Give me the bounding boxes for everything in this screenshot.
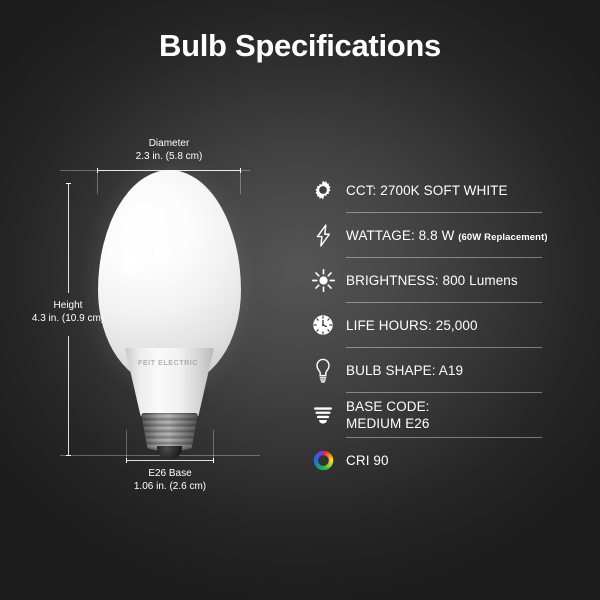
bulb-outline-icon (303, 350, 343, 390)
spec-label-wattage: WATTAGE: 8.8 W (60W Replacement) (343, 227, 588, 244)
spec-row-bulb-shape: BULB SHAPE: A19 (303, 348, 588, 392)
base-label-title: E26 Base (80, 468, 260, 481)
lightning-bolt-icon (303, 215, 343, 255)
bulb-highlight-secondary (148, 242, 170, 268)
height-label-title: Height (8, 300, 128, 313)
spec-label-wattage-main: WATTAGE: 8.8 W (346, 228, 454, 243)
spec-label-cct: CCT: 2700K SOFT WHITE (343, 182, 588, 199)
sun-rays-icon (303, 260, 343, 300)
screw-base-icon (303, 395, 343, 435)
diameter-cap-left (97, 168, 98, 173)
bulb-specifications-infographic: Bulb Specifications FEIT ELECTRIC (0, 0, 600, 600)
feit-electric-logo: FEIT ELECTRIC (128, 360, 208, 368)
base-cap-right (213, 458, 214, 463)
spec-label-wattage-sub: (60W Replacement) (458, 232, 547, 243)
height-dimension-line-upper (68, 183, 69, 293)
spec-label-base-code-line1: BASE CODE: (346, 399, 430, 414)
base-dimension-line (126, 460, 214, 461)
diameter-cap-right (240, 168, 241, 173)
spec-label-brightness: BRIGHTNESS: 800 Lumens (343, 272, 588, 289)
spec-row-wattage: WATTAGE: 8.8 W (60W Replacement) (303, 213, 588, 257)
specifications-list: CCT: 2700K SOFT WHITE WATTAGE: 8.8 W (60… (303, 168, 588, 482)
color-wheel-icon (303, 440, 343, 480)
spec-row-life-hours: LIFE HOURS: 25,000 (303, 303, 588, 347)
height-dimension-line-lower (68, 336, 69, 455)
spec-label-base-code: BASE CODE: MEDIUM E26 (343, 398, 588, 432)
base-label-value: 1.06 in. (2.6 cm) (80, 481, 260, 494)
diameter-label-title: Diameter (98, 138, 240, 151)
spec-label-cri: CRI 90 (343, 452, 588, 469)
page-title: Bulb Specifications (0, 28, 600, 64)
bulb-highlight-primary (122, 248, 142, 278)
height-cap-top (66, 183, 71, 184)
spec-row-cct: CCT: 2700K SOFT WHITE (303, 168, 588, 212)
spec-label-bulb-shape: BULB SHAPE: A19 (343, 362, 588, 379)
height-cap-bottom (66, 455, 71, 456)
spec-label-base-code-line2: MEDIUM E26 (346, 416, 430, 431)
diameter-dimension-line (97, 170, 241, 171)
spec-label-life-hours: LIFE HOURS: 25,000 (343, 317, 588, 334)
bulb-neck (125, 348, 214, 418)
spec-row-cri: CRI 90 (303, 438, 588, 482)
height-label-value: 4.3 in. (10.9 cm) (8, 313, 128, 326)
brand-line-2: ELECTRIC (158, 360, 198, 367)
spec-row-brightness: BRIGHTNESS: 800 Lumens (303, 258, 588, 302)
spec-row-base-code: BASE CODE: MEDIUM E26 (303, 393, 588, 437)
bulb-base-tip (157, 446, 182, 459)
gear-sun-icon (303, 170, 343, 210)
base-label: E26 Base 1.06 in. (2.6 cm) (80, 468, 260, 494)
brand-line-1: FEIT (138, 360, 156, 367)
base-cap-left (126, 458, 127, 463)
diameter-label-value: 2.3 in. (5.8 cm) (98, 151, 240, 164)
clock-icon (303, 305, 343, 345)
diameter-label: Diameter 2.3 in. (5.8 cm) (98, 138, 240, 164)
height-label: Height 4.3 in. (10.9 cm) (8, 300, 128, 326)
